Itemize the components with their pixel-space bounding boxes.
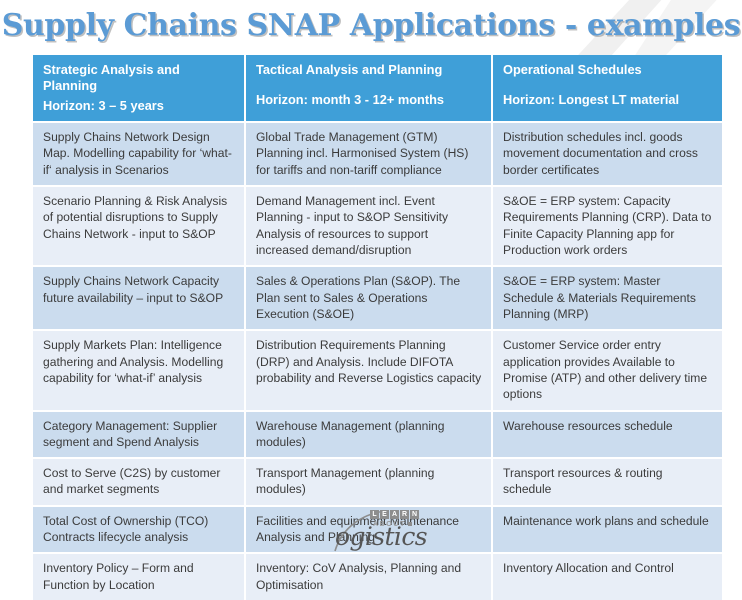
table-row: Scenario Planning & Risk Analysis of pot… xyxy=(33,186,722,266)
logo-letter-e: E xyxy=(380,510,389,519)
cell-operational: S&OE = ERP system: Capacity Requirements… xyxy=(492,186,722,266)
logo-letter-n: N xyxy=(410,510,419,519)
column-header-strategic-horizon: Horizon: 3 – 5 years xyxy=(43,98,236,114)
cell-tactical: Distribution Requirements Planning (DRP)… xyxy=(245,330,492,410)
cell-strategic: Supply Chains Network Capacity future av… xyxy=(33,266,245,330)
cell-tactical: Sales & Operations Plan (S&OP). The Plan… xyxy=(245,266,492,330)
table-row: Category Management: Supplier segment an… xyxy=(33,411,722,459)
cell-strategic: Category Management: Supplier segment an… xyxy=(33,411,245,459)
table-row: Cost to Serve (C2S) by customer and mark… xyxy=(33,458,722,506)
table-header: Strategic Analysis and Planning Horizon:… xyxy=(33,55,722,122)
cell-tactical: Inventory: CoV Analysis, Planning and Op… xyxy=(245,553,492,600)
logo-wordmark: ogistics xyxy=(335,523,427,551)
column-header-strategic: Strategic Analysis and Planning Horizon:… xyxy=(33,55,245,122)
cell-tactical: Demand Management incl. Event Planning -… xyxy=(245,186,492,266)
cell-strategic: Inventory Policy – Form and Function by … xyxy=(33,553,245,600)
cell-strategic: Scenario Planning & Risk Analysis of pot… xyxy=(33,186,245,266)
learn-about-logistics-logo: L E A R N ABOUT ogistics xyxy=(329,509,444,555)
logo-letter-l: L xyxy=(370,510,379,519)
logo-letter-r: R xyxy=(400,510,409,519)
column-header-operational-title: Operational Schedules xyxy=(503,62,714,78)
cell-operational: S&OE = ERP system: Master Schedule & Mat… xyxy=(492,266,722,330)
column-header-tactical-title: Tactical Analysis and Planning xyxy=(256,62,483,78)
table-row: Supply Markets Plan: Intelligence gather… xyxy=(33,330,722,410)
cell-strategic: Supply Markets Plan: Intelligence gather… xyxy=(33,330,245,410)
cell-tactical: Warehouse Management (planning modules) xyxy=(245,411,492,459)
cell-strategic: Cost to Serve (C2S) by customer and mark… xyxy=(33,458,245,506)
table-row: Inventory Policy – Form and Function by … xyxy=(33,553,722,600)
cell-tactical: Transport Management (planning modules) xyxy=(245,458,492,506)
table-row: Supply Chains Network Design Map. Modell… xyxy=(33,122,722,186)
cell-strategic: Supply Chains Network Design Map. Modell… xyxy=(33,122,245,186)
cell-operational: Transport resources & routing schedule xyxy=(492,458,722,506)
cell-operational: Distribution schedules incl. goods movem… xyxy=(492,122,722,186)
cell-tactical: Global Trade Management (GTM) Planning i… xyxy=(245,122,492,186)
cell-operational: Inventory Allocation and Control xyxy=(492,553,722,600)
column-header-tactical-horizon: Horizon: month 3 - 12+ months xyxy=(256,92,483,108)
logo-learn-letters: L E A R N xyxy=(370,510,419,519)
column-header-operational-horizon: Horizon: Longest LT material xyxy=(503,92,714,108)
cell-operational: Warehouse resources schedule xyxy=(492,411,722,459)
table-row: Supply Chains Network Capacity future av… xyxy=(33,266,722,330)
column-header-tactical: Tactical Analysis and Planning Horizon: … xyxy=(245,55,492,122)
cell-operational: Customer Service order entry application… xyxy=(492,330,722,410)
table-header-row: Strategic Analysis and Planning Horizon:… xyxy=(33,55,722,122)
page-title: Supply Chains SNAP Applications - exampl… xyxy=(0,8,742,43)
column-header-operational: Operational Schedules Horizon: Longest L… xyxy=(492,55,722,122)
column-header-strategic-title: Strategic Analysis and Planning xyxy=(43,62,236,95)
cell-operational: Maintenance work plans and schedule xyxy=(492,506,722,554)
logo-letter-a: A xyxy=(390,510,399,519)
cell-strategic: Total Cost of Ownership (TCO) Contracts … xyxy=(33,506,245,554)
